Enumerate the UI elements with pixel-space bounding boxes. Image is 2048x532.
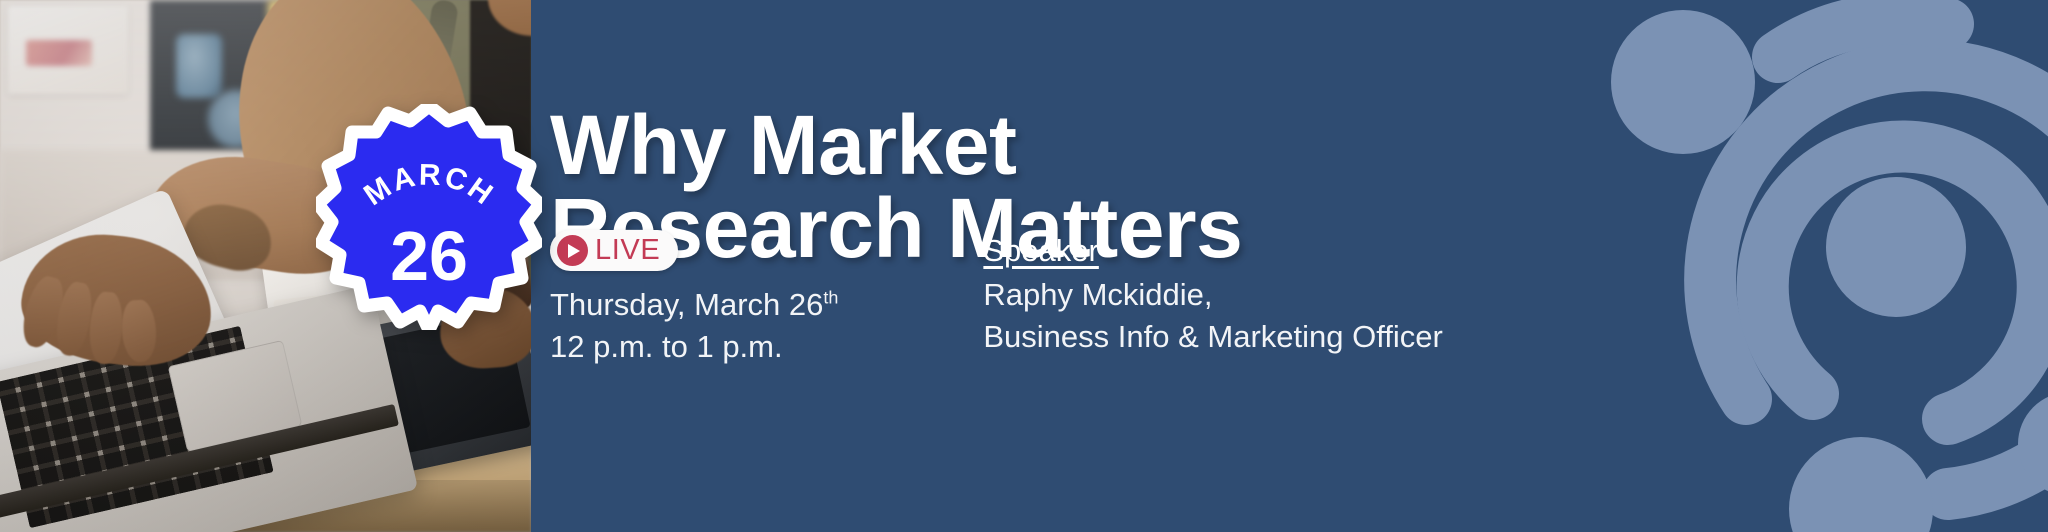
event-time: 12 p.m. to 1 p.m. xyxy=(550,326,838,368)
date-seal-badge: MARCH 26 xyxy=(316,104,542,330)
live-label: LIVE xyxy=(595,236,660,265)
center-dot xyxy=(1826,177,1966,317)
decorative-circles-pattern xyxy=(1488,0,2048,532)
info-row: LIVE Thursday, March 26th 12 p.m. to 1 p… xyxy=(550,230,1443,368)
speaker-heading: Speaker xyxy=(983,230,1098,272)
webinar-banner: Why Market Research Matters LIVE Thursda… xyxy=(0,0,2048,532)
title-line-1: Why Market xyxy=(550,104,1242,186)
speaker-name: Raphy Mckiddie, xyxy=(983,274,1442,316)
event-date-ordinal: th xyxy=(823,288,838,308)
play-circle-icon xyxy=(557,235,588,266)
live-badge: LIVE xyxy=(550,230,678,271)
badge-day: 26 xyxy=(390,217,468,295)
date-block: LIVE Thursday, March 26th 12 p.m. to 1 p… xyxy=(550,230,838,368)
play-triangle-icon xyxy=(568,244,580,258)
speaker-block: Speaker Raphy Mckiddie, Business Info & … xyxy=(983,230,1442,358)
content-panel: Why Market Research Matters LIVE Thursda… xyxy=(531,0,2048,532)
satellite-dot-bottom xyxy=(1789,437,1933,532)
speaker-role: Business Info & Marketing Officer xyxy=(983,316,1442,358)
event-date-text: Thursday, March 26 xyxy=(550,287,823,322)
event-date: Thursday, March 26th xyxy=(550,284,838,326)
satellite-dot-top xyxy=(1611,10,1755,154)
